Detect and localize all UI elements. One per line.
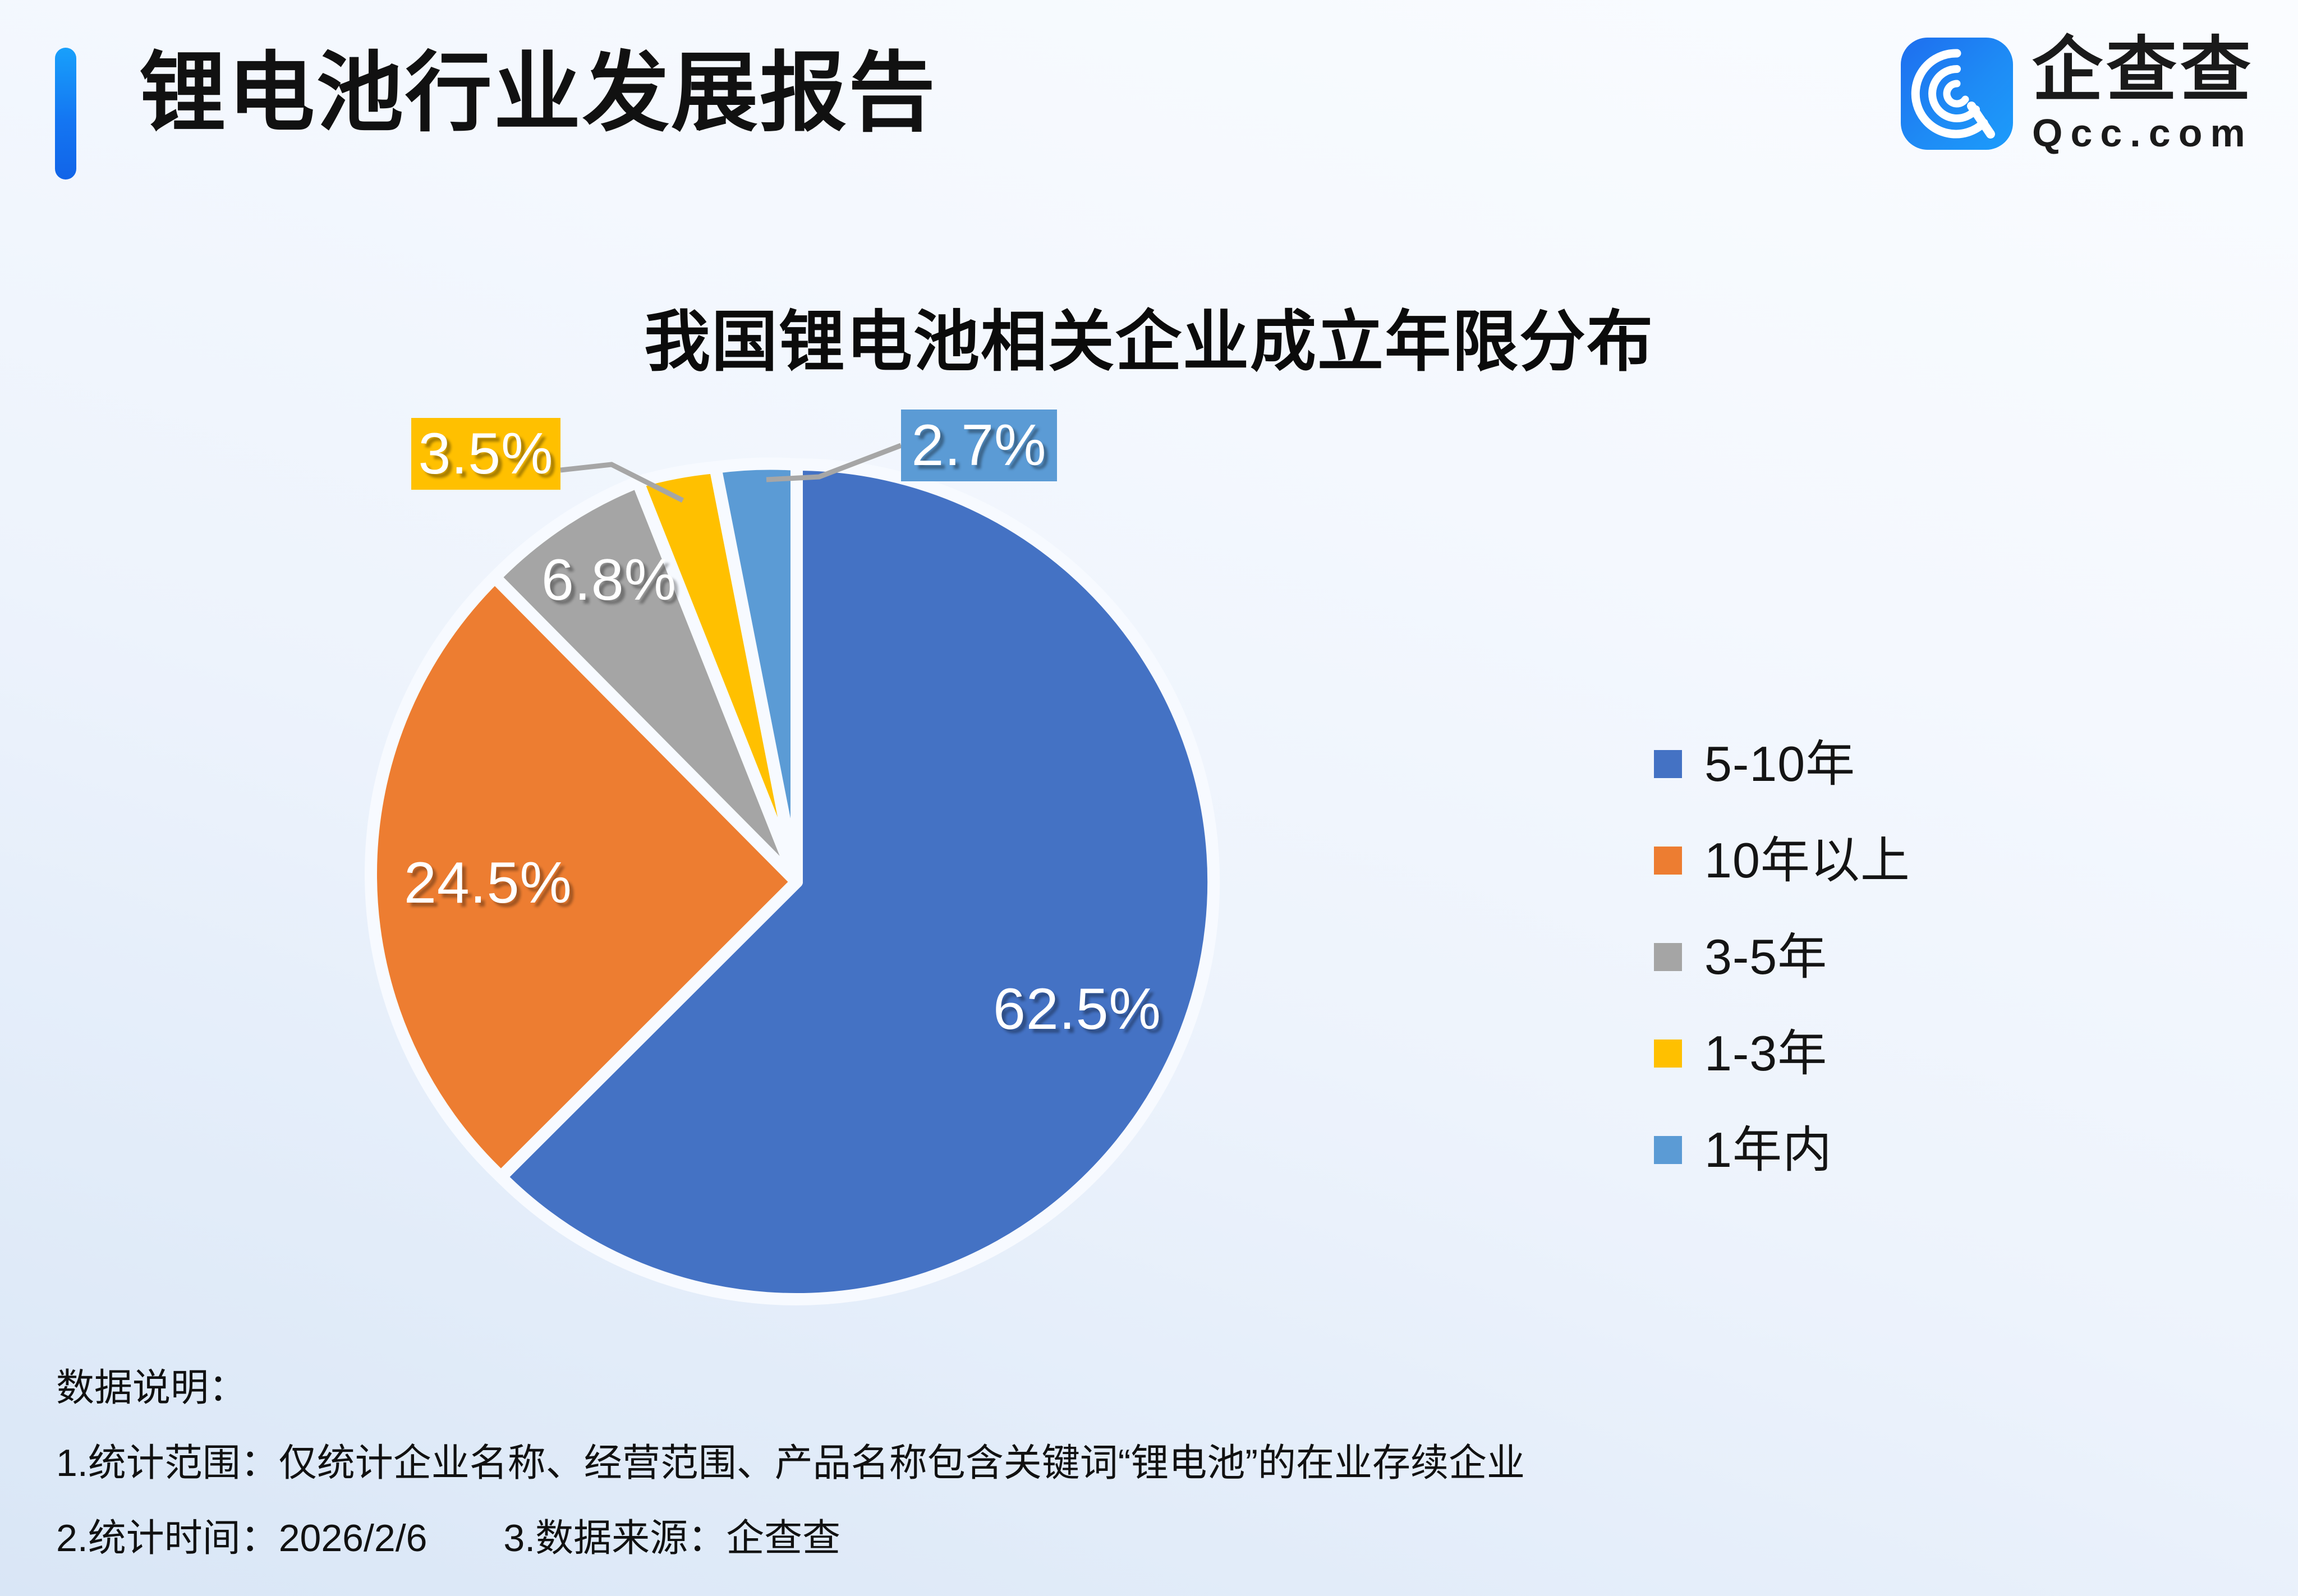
pie-slices	[371, 464, 1214, 1299]
footer-notes: 数据说明： 1.统计范围：仅统计企业名称、经营范围、产品名称包含关键词“锂电池”…	[56, 1369, 2132, 1557]
leader-line-1-3	[560, 464, 683, 500]
legend-item-within-1[interactable]: 1年内	[1654, 1125, 1910, 1175]
footer-note-time-source: 2.统计时间：2026/2/6 3.数据来源：企查查	[56, 1519, 2132, 1557]
legend-swatch-icon	[1654, 750, 1682, 778]
leader-line-within-1	[766, 445, 901, 480]
brand-name-cn: 企查查	[2032, 35, 2254, 105]
legend-swatch-icon	[1654, 943, 1682, 971]
legend-item-3-5[interactable]: 3-5年	[1654, 932, 1910, 982]
legend-item-10plus[interactable]: 10年以上	[1654, 836, 1910, 885]
pie-slice-1-3	[638, 467, 797, 882]
brand-words: 企查查 Qcc.com	[2032, 35, 2254, 153]
legend-swatch-icon	[1654, 1136, 1682, 1164]
qcc-spiral-q-logo-icon	[1901, 38, 2013, 150]
pie-chart: 3.5% 2.7% 62.5% 24.5% 6.8%	[0, 0, 2298, 1596]
page-header: 锂电池行业发展报告 企查查 Qcc.com	[0, 0, 2298, 213]
callout-label-within-1: 2.7%	[901, 410, 1057, 481]
pie-slice-10plus	[371, 577, 797, 1177]
footer-note-scope: 1.统计范围：仅统计企业名称、经营范围、产品名称包含关键词“锂电池”的在业存续企…	[56, 1444, 2132, 1482]
legend-label: 3-5年	[1704, 932, 1827, 982]
report-page: 锂电池行业发展报告 企查查 Qcc.com 我国锂电池相关企业成立年限分布	[0, 0, 2298, 1596]
page-title: 锂电池行业发展报告	[139, 49, 937, 136]
brand-domain: Qcc.com	[2032, 113, 2253, 153]
legend-swatch-icon	[1654, 1040, 1682, 1068]
chart-legend: 5-10年 10年以上 3-5年 1-3年 1年内	[1654, 739, 1910, 1175]
slice-label-3-5: 6.8%	[541, 547, 677, 614]
brand-lockup: 企查查 Qcc.com	[1901, 35, 2254, 153]
pie-slice-3-5	[495, 482, 797, 882]
pie-slice-within-1	[715, 464, 797, 882]
legend-label: 10年以上	[1704, 836, 1910, 885]
legend-label: 1-3年	[1704, 1029, 1827, 1078]
legend-label: 5-10年	[1704, 739, 1855, 789]
legend-label: 1年内	[1704, 1125, 1832, 1175]
callout-label-1-3: 3.5%	[411, 418, 560, 490]
callout-leader-lines	[560, 445, 901, 500]
title-accent-bar	[55, 48, 76, 180]
pie-slice-5-10	[501, 464, 1214, 1299]
legend-swatch-icon	[1654, 847, 1682, 875]
slice-label-5-10: 62.5%	[993, 976, 1161, 1043]
slice-label-10plus: 24.5%	[404, 850, 572, 917]
footer-heading: 数据说明：	[56, 1369, 2132, 1407]
chart-title: 我国锂电池相关企业成立年限分布	[0, 288, 2298, 384]
legend-item-5-10[interactable]: 5-10年	[1654, 739, 1910, 789]
legend-item-1-3[interactable]: 1-3年	[1654, 1029, 1910, 1078]
